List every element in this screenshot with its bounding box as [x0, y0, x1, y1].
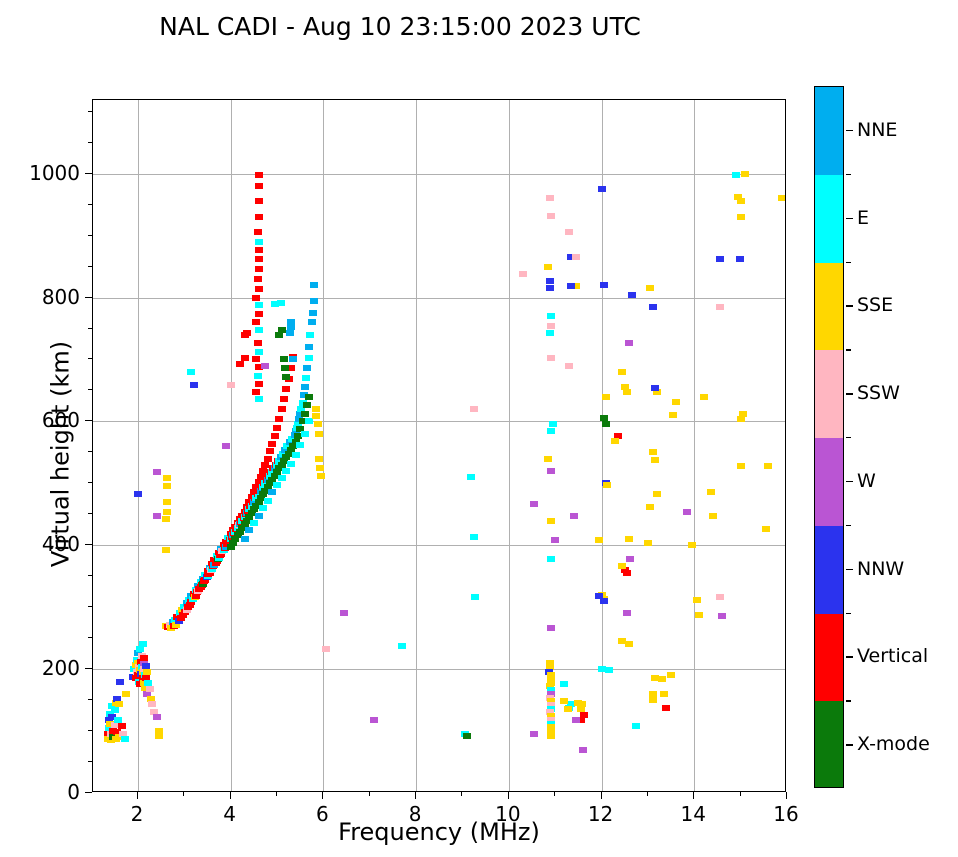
data-point: [303, 365, 311, 371]
data-point: [667, 672, 675, 678]
data-point: [254, 276, 262, 282]
data-point: [530, 731, 538, 737]
data-point: [653, 491, 661, 497]
data-point: [315, 456, 323, 462]
x-minor-tick: [461, 792, 462, 796]
gridline-vertical: [694, 100, 695, 791]
data-point: [303, 402, 311, 408]
plot-area: [92, 99, 786, 792]
data-point: [144, 680, 152, 686]
data-point: [305, 394, 313, 400]
colorbar-tick-label-w: W: [857, 470, 876, 492]
data-point: [153, 469, 161, 475]
colorbar-segment-nnw: [815, 526, 843, 614]
data-point: [463, 733, 471, 739]
data-point: [737, 463, 745, 469]
data-point: [271, 433, 279, 439]
data-point: [649, 697, 657, 703]
y-tick: [85, 792, 92, 793]
y-minor-tick: [88, 606, 92, 607]
data-point: [646, 504, 654, 510]
x-minor-tick: [647, 792, 648, 796]
colorbar-boundary-tick: [846, 349, 851, 350]
colorbar-tick: [846, 656, 853, 657]
colorbar-segment-nne: [815, 87, 843, 175]
data-point: [312, 406, 320, 412]
data-point: [255, 396, 263, 402]
colorbar-segment-x-mode: [815, 701, 843, 788]
gridline-vertical: [138, 100, 139, 791]
data-point: [764, 463, 772, 469]
colorbar-boundary-tick: [846, 613, 851, 614]
data-point: [163, 483, 171, 489]
y-tick: [85, 668, 92, 669]
gridline-vertical: [416, 100, 417, 791]
data-point: [398, 643, 406, 649]
data-point: [470, 534, 478, 540]
data-point: [602, 421, 610, 427]
data-point: [316, 465, 324, 471]
data-point: [669, 412, 677, 418]
x-minor-tick: [276, 792, 277, 796]
data-point: [250, 520, 258, 526]
data-point: [275, 416, 283, 422]
data-point: [266, 448, 274, 454]
data-point: [309, 310, 317, 316]
colorbar-segment-vertical: [815, 614, 843, 702]
data-point: [255, 266, 263, 272]
colorbar-segment-w: [815, 438, 843, 526]
data-point: [190, 382, 198, 388]
data-point: [241, 355, 249, 361]
data-point: [255, 327, 263, 333]
data-point: [547, 355, 555, 361]
y-minor-tick: [88, 142, 92, 143]
colorbar-tick: [846, 481, 853, 482]
colorbar-tick-label-x-mode: X-mode: [857, 733, 930, 755]
gridline-vertical: [323, 100, 324, 791]
data-point: [778, 195, 786, 201]
data-point: [255, 513, 263, 519]
data-point: [139, 641, 147, 647]
x-tick: [786, 792, 787, 799]
colorbar-boundary-tick: [846, 437, 851, 438]
data-point: [660, 691, 668, 697]
x-minor-tick: [183, 792, 184, 796]
data-point: [547, 733, 555, 739]
data-point: [163, 475, 171, 481]
colorbar-segment-e: [815, 175, 843, 263]
data-point: [310, 298, 318, 304]
data-point: [286, 330, 294, 336]
data-point: [259, 505, 267, 511]
data-point: [227, 382, 235, 388]
data-point: [707, 489, 715, 495]
data-point: [287, 461, 295, 467]
y-minor-tick: [88, 204, 92, 205]
data-point: [153, 714, 161, 720]
data-point: [547, 323, 555, 329]
data-point: [308, 319, 316, 325]
data-point: [625, 340, 633, 346]
y-minor-tick: [88, 730, 92, 731]
data-point: [544, 456, 552, 462]
data-point: [649, 449, 657, 455]
x-tick: [230, 792, 231, 799]
data-point: [273, 482, 281, 488]
data-point: [289, 356, 297, 362]
colorbar-boundary-tick: [846, 262, 851, 263]
data-point: [268, 489, 276, 495]
gridline-vertical: [602, 100, 603, 791]
data-point: [547, 518, 555, 524]
data-point: [255, 247, 263, 253]
data-point: [255, 198, 263, 204]
data-point: [187, 369, 195, 375]
y-minor-tick: [88, 235, 92, 236]
data-point: [572, 717, 580, 723]
x-minor-tick: [554, 792, 555, 796]
data-point: [252, 319, 260, 325]
data-point: [222, 443, 230, 449]
data-point: [688, 542, 696, 548]
data-point: [252, 295, 260, 301]
y-minor-tick: [88, 761, 92, 762]
data-point: [651, 457, 659, 463]
data-point: [315, 431, 323, 437]
data-point: [162, 547, 170, 553]
data-point: [736, 256, 744, 262]
data-point: [280, 356, 288, 362]
x-minor-tick: [369, 792, 370, 796]
data-point: [122, 691, 130, 697]
data-point: [672, 399, 680, 405]
data-point: [626, 556, 634, 562]
data-point: [611, 438, 619, 444]
data-point: [121, 736, 129, 742]
data-point: [264, 456, 272, 462]
data-point: [570, 513, 578, 519]
data-point: [598, 186, 606, 192]
data-point: [567, 283, 575, 289]
data-point: [278, 475, 286, 481]
data-point: [683, 509, 691, 515]
data-point: [255, 214, 263, 220]
data-point: [254, 229, 262, 235]
y-tick: [85, 420, 92, 421]
data-point: [600, 282, 608, 288]
data-point: [600, 598, 608, 604]
data-point: [277, 300, 285, 306]
y-minor-tick: [88, 266, 92, 267]
data-point: [301, 431, 309, 437]
colorbar-tick-label-nne: NNE: [857, 119, 897, 141]
data-point: [278, 406, 286, 412]
data-point: [560, 681, 568, 687]
data-point: [551, 537, 559, 543]
data-point: [700, 394, 708, 400]
data-point: [737, 214, 745, 220]
data-point: [693, 597, 701, 603]
data-point: [305, 344, 313, 350]
data-point: [623, 610, 631, 616]
data-point: [282, 468, 290, 474]
data-point: [261, 462, 269, 468]
data-point: [547, 428, 555, 434]
data-point: [651, 385, 659, 391]
data-point: [317, 473, 325, 479]
data-point: [716, 304, 724, 310]
data-point: [547, 468, 555, 474]
gridline-horizontal: [93, 545, 785, 546]
data-point: [662, 705, 670, 711]
data-point: [547, 625, 555, 631]
colorbar-tick: [846, 744, 853, 745]
gridline-vertical: [231, 100, 232, 791]
x-tick: [693, 792, 694, 799]
data-point: [261, 363, 269, 369]
data-point: [644, 540, 652, 546]
data-point: [741, 171, 749, 177]
data-point: [255, 302, 263, 308]
data-point: [273, 425, 281, 431]
data-point: [306, 332, 314, 338]
data-point: [243, 330, 251, 336]
data-point: [255, 239, 263, 245]
x-tick: [322, 792, 323, 799]
colorbar-tick-label-e: E: [857, 207, 869, 229]
colorbar-tick-label-nnw: NNW: [857, 558, 904, 580]
gridline-horizontal: [93, 174, 785, 175]
data-point: [282, 386, 290, 392]
data-point: [301, 411, 309, 417]
data-point: [618, 369, 626, 375]
data-point: [560, 698, 568, 704]
data-point: [268, 441, 276, 447]
data-point: [153, 513, 161, 519]
data-point: [163, 509, 171, 515]
data-point: [255, 311, 263, 317]
data-point: [252, 356, 260, 362]
colorbar-tick: [846, 218, 853, 219]
data-point: [709, 513, 717, 519]
x-tick: [415, 792, 416, 799]
page-title: NAL CADI - Aug 10 23:15:00 2023 UTC: [0, 12, 800, 41]
ionogram-figure: NAL CADI - Aug 10 23:15:00 2023 UTC 2468…: [0, 0, 958, 857]
data-point: [302, 375, 310, 381]
x-tick: [137, 792, 138, 799]
data-point: [370, 717, 378, 723]
data-point: [314, 421, 322, 427]
data-point: [255, 172, 263, 178]
data-point: [296, 442, 304, 448]
gridline-horizontal: [93, 421, 785, 422]
colorbar-tick: [846, 305, 853, 306]
data-point: [625, 536, 633, 542]
data-point: [546, 285, 554, 291]
colorbar-tick-label-ssw: SSW: [857, 382, 900, 404]
y-minor-tick: [88, 328, 92, 329]
data-point: [530, 501, 538, 507]
x-minor-tick: [740, 792, 741, 796]
data-point: [162, 516, 170, 522]
data-point: [716, 256, 724, 262]
data-point: [565, 229, 573, 235]
data-point: [572, 254, 580, 260]
data-point: [628, 292, 636, 298]
data-point: [241, 536, 249, 542]
data-point: [649, 304, 657, 310]
data-point: [116, 679, 124, 685]
data-point: [118, 723, 126, 729]
data-point: [574, 700, 582, 706]
data-point: [732, 172, 740, 178]
data-point: [301, 384, 309, 390]
data-point: [737, 198, 745, 204]
data-point: [602, 394, 610, 400]
data-point: [547, 313, 555, 319]
y-minor-tick: [88, 637, 92, 638]
data-point: [281, 365, 289, 371]
data-point: [278, 327, 286, 333]
data-point: [340, 610, 348, 616]
data-point: [282, 374, 290, 380]
data-point: [114, 717, 122, 723]
y-tick: [85, 173, 92, 174]
y-minor-tick: [88, 575, 92, 576]
data-point: [623, 570, 631, 576]
data-point: [280, 396, 288, 402]
colorbar-tick-label-vertical: Vertical: [857, 645, 928, 667]
data-point: [236, 361, 244, 367]
x-tick: [508, 792, 509, 799]
data-point: [623, 389, 631, 395]
data-point: [546, 278, 554, 284]
gridline-horizontal: [93, 298, 785, 299]
colorbar-segment-ssw: [815, 350, 843, 438]
data-point: [292, 452, 300, 458]
y-minor-tick: [88, 111, 92, 112]
gridline-horizontal: [93, 669, 785, 670]
data-point: [143, 669, 151, 675]
data-point: [600, 415, 608, 421]
data-point: [762, 526, 770, 532]
data-point: [603, 482, 611, 488]
data-point: [163, 499, 171, 505]
data-point: [695, 612, 703, 618]
data-point: [148, 701, 156, 707]
data-point: [287, 324, 295, 330]
y-minor-tick: [88, 699, 92, 700]
x-axis-label: Frequency (MHz): [92, 818, 786, 846]
data-point: [547, 556, 555, 562]
data-point: [546, 330, 554, 336]
data-point: [519, 271, 527, 277]
data-point: [547, 213, 555, 219]
colorbar-tick: [846, 393, 853, 394]
colorbar-boundary-tick: [846, 700, 851, 701]
data-point: [467, 474, 475, 480]
data-point: [255, 256, 263, 262]
colorbar-tick-label-sse: SSE: [857, 294, 893, 316]
data-point: [716, 594, 724, 600]
data-point: [322, 646, 330, 652]
gridline-vertical: [509, 100, 510, 791]
data-point: [658, 676, 666, 682]
data-point: [255, 183, 263, 189]
data-point: [255, 349, 263, 355]
data-point: [252, 389, 260, 395]
y-minor-tick: [88, 358, 92, 359]
data-point: [111, 707, 119, 713]
data-point: [254, 373, 262, 379]
data-point: [544, 264, 552, 270]
y-tick: [85, 297, 92, 298]
data-point: [549, 421, 557, 427]
data-point: [564, 706, 572, 712]
y-tick: [85, 544, 92, 545]
x-tick: [601, 792, 602, 799]
colorbar-boundary-tick: [846, 525, 851, 526]
data-point: [649, 691, 657, 697]
colorbar-boundary-tick: [846, 174, 851, 175]
data-point: [146, 686, 154, 692]
colorbar-segment-sse: [815, 263, 843, 351]
data-point: [579, 747, 587, 753]
data-point: [255, 381, 263, 387]
data-point: [305, 355, 313, 361]
data-point: [471, 594, 479, 600]
y-minor-tick: [88, 451, 92, 452]
y-axis-label: Virtual height (km): [47, 108, 75, 801]
colorbar: [814, 86, 844, 788]
data-point: [254, 340, 262, 346]
data-point: [134, 491, 142, 497]
data-point: [632, 723, 640, 729]
data-point: [470, 406, 478, 412]
colorbar-tick: [846, 130, 853, 131]
data-point: [605, 667, 613, 673]
colorbar-tick: [846, 569, 853, 570]
data-point: [245, 527, 253, 533]
data-point: [264, 498, 272, 504]
data-point: [140, 655, 148, 661]
data-point: [310, 282, 318, 288]
data-point: [595, 537, 603, 543]
data-point: [155, 733, 163, 739]
data-point: [115, 701, 123, 707]
data-point: [718, 613, 726, 619]
data-point: [312, 413, 320, 419]
y-minor-tick: [88, 389, 92, 390]
data-point: [565, 363, 573, 369]
data-point: [618, 563, 626, 569]
data-point: [737, 416, 745, 422]
y-minor-tick: [88, 513, 92, 514]
data-point: [255, 286, 263, 292]
data-point: [646, 285, 654, 291]
data-point: [546, 195, 554, 201]
y-minor-tick: [88, 482, 92, 483]
data-point: [625, 641, 633, 647]
